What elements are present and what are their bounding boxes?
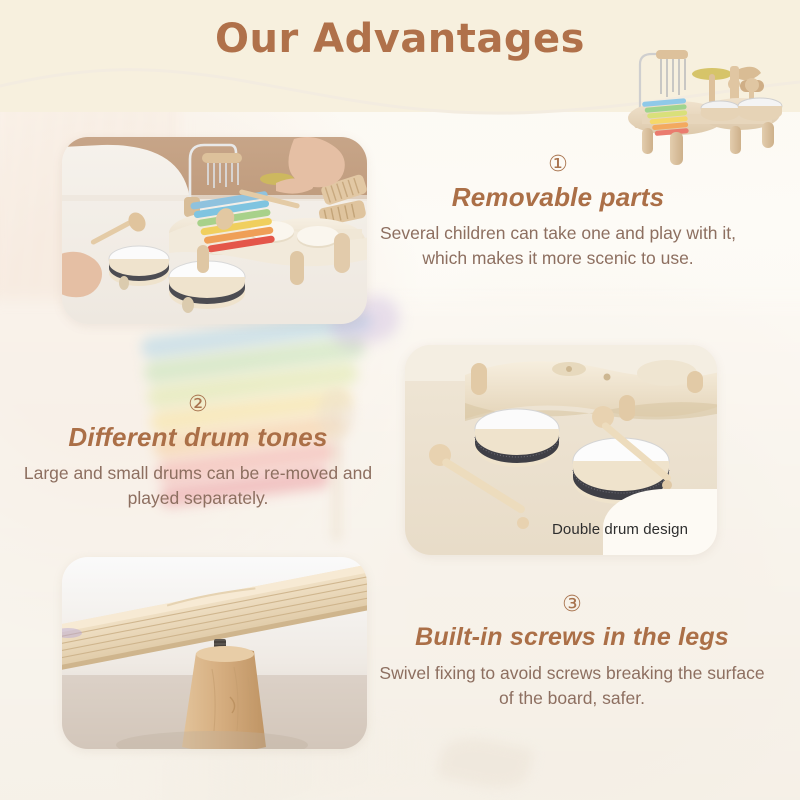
feature-2-description: Large and small drums can be re-moved an…: [18, 461, 378, 510]
feature-2-title: Different drum tones: [18, 420, 378, 454]
photo-caption-double-drum: Double drum design: [552, 521, 688, 538]
feature-block-3: ③ Built-in screws in the legs Swivel fix…: [372, 592, 772, 710]
feature-3-description: Swivel fixing to avoid screws breaking t…: [372, 661, 772, 710]
infographic-page: Our Advantages: [0, 0, 800, 800]
feature-block-2: ② Different drum tones Large and small d…: [18, 392, 378, 510]
photo-built-in-screw: [62, 557, 367, 749]
feature-1-number: ①: [378, 152, 738, 178]
feature-1-description: Several children can take one and play w…: [378, 221, 738, 270]
photo-removable-parts: [62, 137, 367, 324]
feature-2-number: ②: [18, 392, 378, 418]
hero-product-image: [612, 22, 792, 172]
feature-3-number: ③: [372, 592, 772, 618]
feature-block-1: ① Removable parts Several children can t…: [378, 152, 738, 270]
feature-1-title: Removable parts: [378, 180, 738, 214]
feature-3-title: Built-in screws in the legs: [372, 620, 772, 654]
